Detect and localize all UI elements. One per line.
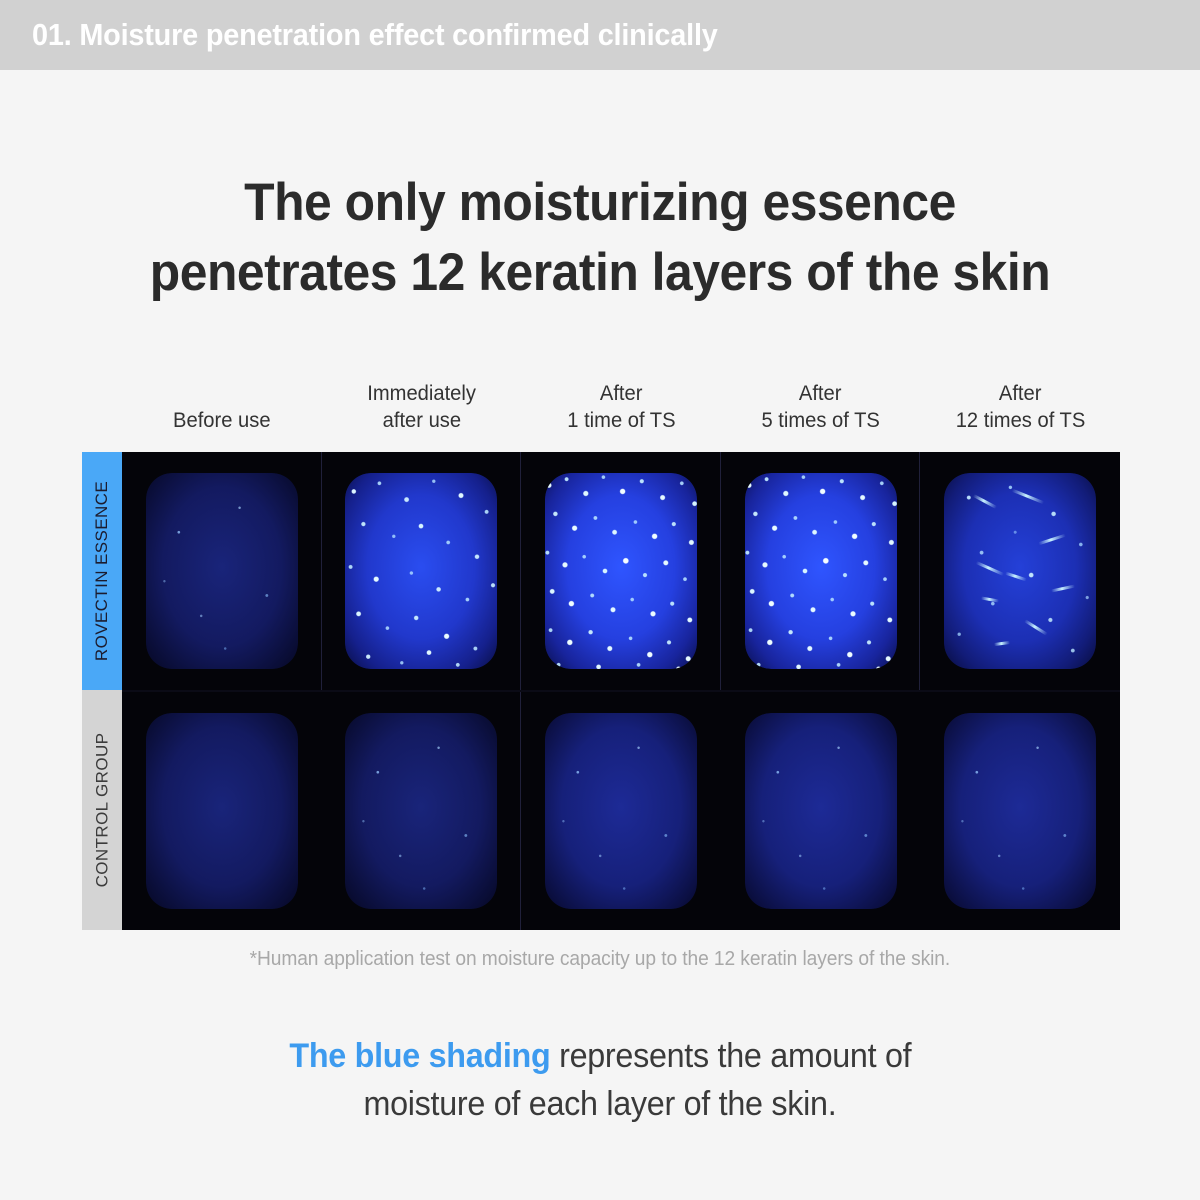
- caption-line-1: The blue shading represents the amount o…: [0, 1032, 1200, 1080]
- fluorescence-patch: [745, 713, 897, 909]
- caption-accent: The blue shading: [289, 1037, 550, 1075]
- caption-rest: represents the amount of: [550, 1037, 911, 1075]
- column-header-before-use: Before use: [122, 373, 322, 435]
- panel-cell-control-immediately-after-use: [322, 692, 522, 930]
- header-bar: 01. Moisture penetration effect confirme…: [0, 0, 1200, 70]
- headline-line-1: The only moisturizing essence: [36, 168, 1164, 238]
- caption: The blue shading represents the amount o…: [0, 1032, 1200, 1129]
- column-header-line-2: 1 time of TS: [567, 407, 675, 435]
- patch-speckles: [146, 713, 298, 909]
- panel-cell-control-after-1-time: [521, 692, 721, 930]
- fluorescence-patch: [944, 713, 1096, 909]
- fluorescence-patch: [146, 473, 298, 669]
- patch-streaks: [944, 473, 1096, 669]
- headline: The only moisturizing essence penetrates…: [0, 168, 1200, 309]
- row-label-text: ROVECTIN ESSENCE: [92, 481, 112, 661]
- panel-row-rovectin-essence: [122, 452, 1120, 690]
- panel-cell-control-before-use: [122, 692, 322, 930]
- patch-speckles: [944, 713, 1096, 909]
- column-header-line-2: 5 times of TS: [761, 407, 879, 435]
- column-header-line-2: Before use: [173, 407, 271, 435]
- fluorescence-image-grid: ROVECTIN ESSENCE CONTROL GROUP: [82, 452, 1120, 930]
- caption-line-2: moisture of each layer of the skin.: [0, 1080, 1200, 1128]
- fluorescence-patch: [345, 713, 497, 909]
- fluorescence-patch: [146, 713, 298, 909]
- footnote-text: *Human application test on moisture capa…: [250, 948, 951, 971]
- patch-speckles: [146, 473, 298, 669]
- image-panels: [122, 452, 1120, 930]
- panel-cell-essence-after-12-times: [920, 452, 1120, 690]
- patch-speckles: [745, 473, 897, 669]
- fluorescence-patch: [345, 473, 497, 669]
- footnote: *Human application test on moisture capa…: [0, 948, 1200, 971]
- fluorescence-patch: [545, 713, 697, 909]
- fluorescence-patch: [745, 473, 897, 669]
- column-header-line-2: after use: [382, 407, 460, 435]
- column-header-immediately-after-use: Immediately after use: [322, 373, 522, 435]
- caption-line-1-inner: The blue shading represents the amount o…: [289, 1032, 911, 1080]
- patch-speckles: [545, 473, 697, 669]
- column-header-after-1-time: After 1 time of TS: [521, 373, 721, 435]
- panel-cell-control-after-5-times: [721, 692, 921, 930]
- panel-cell-essence-after-1-time: [521, 452, 721, 690]
- panel-cell-essence-before-use: [122, 452, 322, 690]
- fluorescence-patch: [944, 473, 1096, 669]
- caption-line-2-inner: moisture of each layer of the skin.: [364, 1080, 837, 1128]
- patch-speckles: [345, 473, 497, 669]
- page-title: 01. Moisture penetration effect confirme…: [32, 17, 718, 53]
- column-headers: Before use Immediately after use After 1…: [122, 373, 1120, 435]
- headline-line-2: penetrates 12 keratin layers of the skin: [36, 238, 1164, 308]
- row-label-text: CONTROL GROUP: [92, 733, 112, 888]
- column-header-after-5-times: After 5 times of TS: [721, 373, 921, 435]
- panel-cell-essence-after-5-times: [721, 452, 921, 690]
- panel-cell-essence-immediately-after-use: [322, 452, 522, 690]
- column-header-after-12-times: After 12 times of TS: [920, 373, 1120, 435]
- column-header-line-1: After: [600, 380, 643, 408]
- row-label-rovectin-essence: ROVECTIN ESSENCE: [82, 452, 122, 690]
- fluorescence-patch: [545, 473, 697, 669]
- row-label-control-group: CONTROL GROUP: [82, 690, 122, 930]
- column-header-line-1: Immediately: [367, 380, 476, 408]
- panel-row-control-group: [122, 692, 1120, 930]
- patch-speckles: [345, 713, 497, 909]
- column-header-line-2: 12 times of TS: [955, 407, 1085, 435]
- column-header-line-1: After: [999, 380, 1042, 408]
- patch-speckles: [745, 713, 897, 909]
- patch-speckles: [545, 713, 697, 909]
- row-label-strip: ROVECTIN ESSENCE CONTROL GROUP: [82, 452, 122, 930]
- column-header-line-1: After: [799, 380, 842, 408]
- panel-cell-control-after-12-times: [920, 692, 1120, 930]
